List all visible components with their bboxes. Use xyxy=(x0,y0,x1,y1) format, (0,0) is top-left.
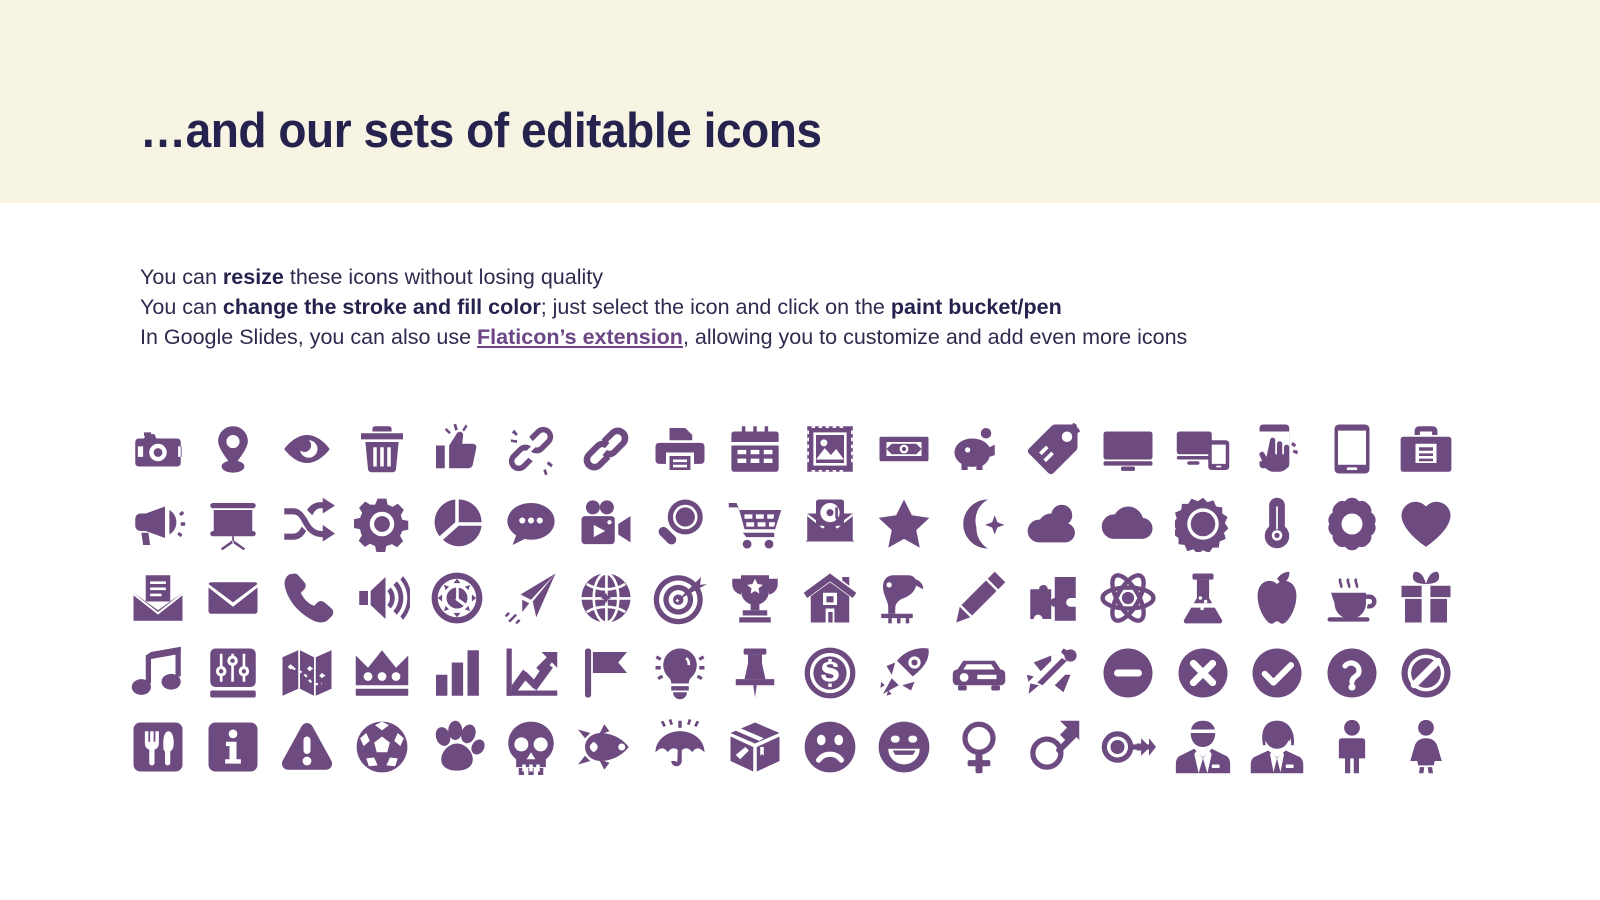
line1-text-b: these icons without losing quality xyxy=(284,265,603,289)
clock-icon[interactable] xyxy=(419,561,494,636)
skull-icon[interactable] xyxy=(494,710,569,785)
slide-canvas: …and our sets of editable icons You can … xyxy=(0,0,1600,900)
soccer-ball-icon[interactable] xyxy=(345,710,420,785)
sun-icon[interactable] xyxy=(1165,487,1240,562)
video-camera-icon[interactable] xyxy=(569,487,644,562)
tablet-icon[interactable] xyxy=(1315,412,1390,487)
question-circle-icon[interactable] xyxy=(1315,636,1390,711)
target-icon[interactable] xyxy=(643,561,718,636)
link-icon[interactable] xyxy=(569,412,644,487)
line-chart-icon[interactable] xyxy=(494,636,569,711)
email-at-icon[interactable] xyxy=(792,487,867,562)
broken-link-icon[interactable] xyxy=(494,412,569,487)
shuffle-icon[interactable] xyxy=(270,487,345,562)
flower-icon[interactable] xyxy=(1315,487,1390,562)
phone-icon[interactable] xyxy=(270,561,345,636)
line1-text-a: You can xyxy=(140,265,223,289)
flag-icon[interactable] xyxy=(569,636,644,711)
bar-chart-icon[interactable] xyxy=(419,636,494,711)
paw-print-icon[interactable] xyxy=(419,710,494,785)
location-pin-icon[interactable] xyxy=(196,412,271,487)
puzzle-icon[interactable] xyxy=(1016,561,1091,636)
line2-text-b: ; just select the icon and click on the xyxy=(541,295,891,319)
line1-bold-resize: resize xyxy=(223,265,284,289)
pie-chart-icon[interactable] xyxy=(419,487,494,562)
house-icon[interactable] xyxy=(792,561,867,636)
transgender-symbol-icon[interactable] xyxy=(1091,710,1166,785)
heart-icon[interactable] xyxy=(1389,487,1464,562)
apple-icon[interactable] xyxy=(1240,561,1315,636)
cloud-icon[interactable] xyxy=(1091,487,1166,562)
trash-icon[interactable] xyxy=(345,412,420,487)
prohibited-icon[interactable] xyxy=(1389,636,1464,711)
star-icon[interactable] xyxy=(867,487,942,562)
sad-face-icon[interactable] xyxy=(792,710,867,785)
music-note-icon[interactable] xyxy=(121,636,196,711)
shopping-cart-icon[interactable] xyxy=(718,487,793,562)
line2-bold-color: change the stroke and fill color xyxy=(223,295,541,319)
photo-frame-icon[interactable] xyxy=(792,412,867,487)
x-circle-icon[interactable] xyxy=(1165,636,1240,711)
crown-icon[interactable] xyxy=(345,636,420,711)
monitor-icon[interactable] xyxy=(1091,412,1166,487)
description-text: You can resize these icons without losin… xyxy=(140,262,1187,352)
dollar-coin-icon[interactable] xyxy=(792,636,867,711)
printer-icon[interactable] xyxy=(643,412,718,487)
umbrella-rain-icon[interactable] xyxy=(643,710,718,785)
megaphone-icon[interactable] xyxy=(121,487,196,562)
presentation-board-icon[interactable] xyxy=(196,487,271,562)
partly-cloudy-icon[interactable] xyxy=(1016,487,1091,562)
coffee-cup-icon[interactable] xyxy=(1315,561,1390,636)
header-band xyxy=(0,0,1600,203)
gift-icon[interactable] xyxy=(1389,561,1464,636)
envelope-icon[interactable] xyxy=(196,561,271,636)
car-icon[interactable] xyxy=(942,636,1017,711)
eye-icon[interactable] xyxy=(270,412,345,487)
check-circle-icon[interactable] xyxy=(1240,636,1315,711)
woman-figure-icon[interactable] xyxy=(1389,710,1464,785)
rocket-icon[interactable] xyxy=(867,636,942,711)
line3-text-b: , allowing you to customize and add even… xyxy=(683,325,1187,349)
pencil-icon[interactable] xyxy=(942,561,1017,636)
camera-icon[interactable] xyxy=(121,412,196,487)
airplane-icon[interactable] xyxy=(1016,636,1091,711)
calendar-icon[interactable] xyxy=(718,412,793,487)
folded-map-icon[interactable] xyxy=(270,636,345,711)
man-figure-icon[interactable] xyxy=(1315,710,1390,785)
lightbulb-icon[interactable] xyxy=(643,636,718,711)
line3-text-a: In Google Slides, you can also use xyxy=(140,325,477,349)
banknote-icon[interactable] xyxy=(867,412,942,487)
female-symbol-icon[interactable] xyxy=(942,710,1017,785)
warning-triangle-icon[interactable] xyxy=(270,710,345,785)
info-icon[interactable] xyxy=(196,710,271,785)
speaker-icon[interactable] xyxy=(345,561,420,636)
parrot-icon[interactable] xyxy=(867,561,942,636)
line2-bold-paint-bucket: paint bucket/pen xyxy=(891,295,1062,319)
minus-circle-icon[interactable] xyxy=(1091,636,1166,711)
line2-text-a: You can xyxy=(140,295,223,319)
description-line-2: You can change the stroke and fill color… xyxy=(140,292,1187,322)
gear-icon[interactable] xyxy=(345,487,420,562)
cutlery-icon[interactable] xyxy=(121,710,196,785)
responsive-devices-icon[interactable] xyxy=(1165,412,1240,487)
magnifier-icon[interactable] xyxy=(643,487,718,562)
equalizer-icon[interactable] xyxy=(196,636,271,711)
moon-icon[interactable] xyxy=(942,487,1017,562)
price-tag-icon[interactable] xyxy=(1016,412,1091,487)
package-box-icon[interactable] xyxy=(718,710,793,785)
thumbs-up-icon[interactable] xyxy=(419,412,494,487)
businessman-icon[interactable] xyxy=(1165,710,1240,785)
paper-plane-icon[interactable] xyxy=(494,561,569,636)
flask-icon[interactable] xyxy=(1165,561,1240,636)
atom-icon[interactable] xyxy=(1091,561,1166,636)
fish-icon[interactable] xyxy=(569,710,644,785)
pushpin-icon[interactable] xyxy=(718,636,793,711)
male-symbol-icon[interactable] xyxy=(1016,710,1091,785)
piggy-bank-icon[interactable] xyxy=(942,412,1017,487)
businesswoman-icon[interactable] xyxy=(1240,710,1315,785)
trophy-icon[interactable] xyxy=(718,561,793,636)
globe-icon[interactable] xyxy=(569,561,644,636)
description-line-3: In Google Slides, you can also use Flati… xyxy=(140,322,1187,352)
happy-face-icon[interactable] xyxy=(867,710,942,785)
description-line-1: You can resize these icons without losin… xyxy=(140,262,1187,292)
flaticon-extension-link[interactable]: Flaticon’s extension xyxy=(477,325,683,349)
touch-gesture-icon[interactable] xyxy=(1240,412,1315,487)
briefcase-icon[interactable] xyxy=(1389,412,1464,487)
page-title: …and our sets of editable icons xyxy=(140,103,822,159)
open-envelope-icon[interactable] xyxy=(121,561,196,636)
icon-grid xyxy=(121,412,1464,785)
thermometer-icon[interactable] xyxy=(1240,487,1315,562)
chat-bubble-icon[interactable] xyxy=(494,487,569,562)
